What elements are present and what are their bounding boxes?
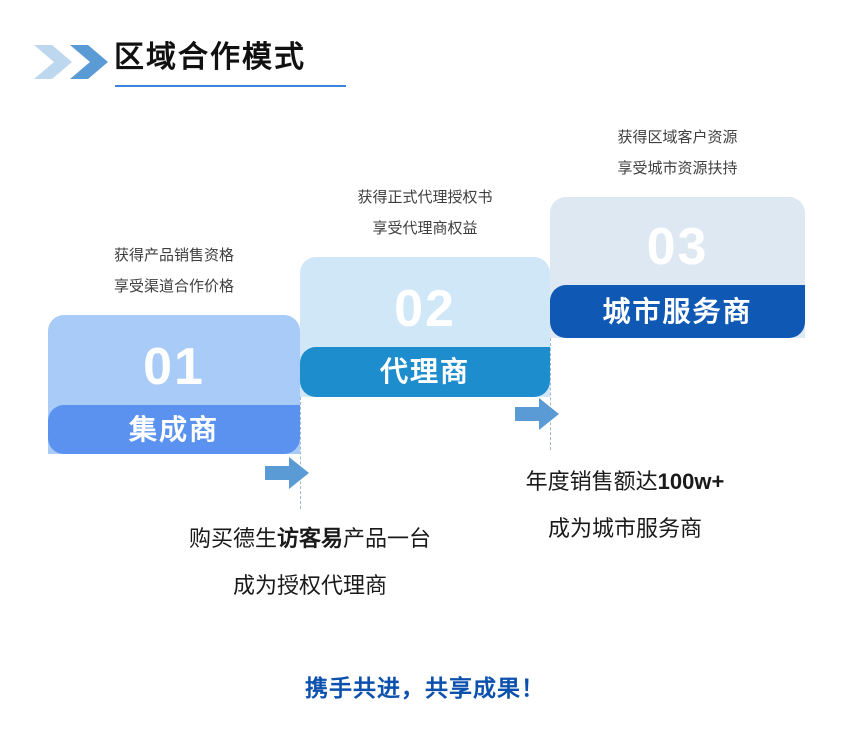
note-2-prefix: 年度销售额达	[526, 469, 658, 494]
note-1-emphasis: 访客易	[277, 526, 343, 551]
step-02-caption-line2: 享受代理商权益	[298, 213, 552, 244]
step-03-caption-line2: 享受城市资源扶持	[550, 153, 805, 184]
transition-note-1: 购买德生访客易产品一台 成为授权代理商	[145, 515, 475, 609]
step-01-caption: 获得产品销售资格 享受渠道合作价格	[48, 240, 300, 302]
partnership-staircase: 获得产品销售资格 享受渠道合作价格 01 集成商 获得正式代理授权书 享受代理商…	[0, 0, 850, 737]
connector-dashed-line	[300, 397, 301, 509]
connector-dashed-line	[550, 338, 551, 450]
step-01-label: 集成商	[129, 414, 219, 446]
note-2-emphasis: 100w+	[658, 469, 725, 494]
step-01-caption-line2: 享受渠道合作价格	[48, 271, 300, 302]
note-1-prefix: 购买德生	[189, 526, 277, 551]
step-02-number: 02	[300, 279, 550, 339]
note-1-suffix: 产品一台	[343, 526, 431, 551]
transition-note-2-line1: 年度销售额达100w+	[460, 458, 790, 505]
transition-note-1-line2: 成为授权代理商	[145, 562, 475, 609]
arrow-right-icon	[515, 398, 559, 430]
step-03-label: 城市服务商	[602, 296, 752, 328]
step-02-band: 代理商	[300, 347, 550, 397]
step-03-band: 城市服务商	[550, 285, 805, 338]
step-02-card[interactable]: 02 代理商	[300, 257, 550, 397]
step-01-caption-line1: 获得产品销售资格	[48, 240, 300, 271]
transition-note-2: 年度销售额达100w+ 成为城市服务商	[460, 458, 790, 552]
transition-note-2-line2: 成为城市服务商	[460, 505, 790, 552]
transition-note-1-line1: 购买德生访客易产品一台	[145, 515, 475, 562]
step-03-card[interactable]: 03 城市服务商	[550, 197, 805, 338]
step-03-number: 03	[550, 217, 805, 277]
step-02-caption: 获得正式代理授权书 享受代理商权益	[298, 182, 552, 244]
step-01-band: 集成商	[48, 405, 300, 454]
step-01-card[interactable]: 01 集成商	[48, 315, 300, 454]
footer-tagline: 携手共进，共享成果！	[0, 672, 850, 704]
step-02-label: 代理商	[380, 356, 470, 388]
step-03-caption-line1: 获得区域客户资源	[550, 122, 805, 153]
step-01-number: 01	[48, 337, 300, 397]
arrow-right-icon	[265, 457, 309, 489]
step-03-caption: 获得区域客户资源 享受城市资源扶持	[550, 122, 805, 184]
step-02-caption-line1: 获得正式代理授权书	[298, 182, 552, 213]
